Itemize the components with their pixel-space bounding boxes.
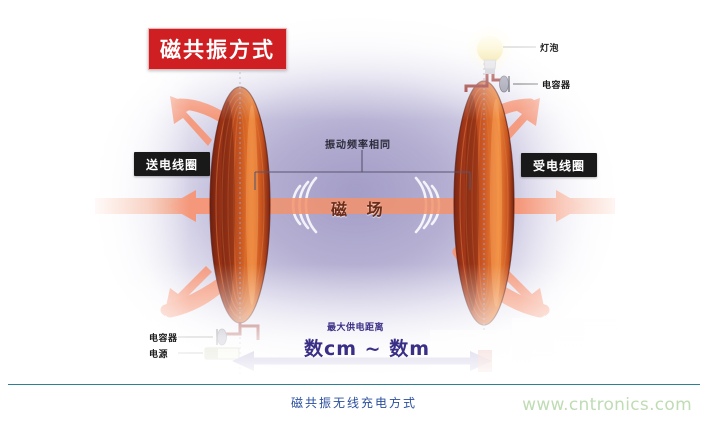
label-receive-coil: 受电线圈 (521, 153, 597, 177)
illustration-panel: 磁共振方式 送电线圈 受电线圈 振动频率相同 磁 场 最大供电距离 数cm ~ … (0, 0, 708, 384)
label-power-source: 电源 (149, 347, 168, 360)
frequency-bracket (255, 150, 470, 190)
footer-divider (8, 384, 700, 385)
site-watermark: www.cntronics.com (522, 395, 692, 415)
label-max-distance-title: 最大供电距离 (327, 320, 384, 333)
title-badge: 磁共振方式 (148, 28, 287, 70)
label-capacitor-right: 电容器 (542, 78, 571, 91)
label-max-distance-value: 数cm ~ 数m (304, 334, 430, 361)
label-transmit-coil: 送电线圈 (134, 152, 210, 176)
label-magnetic-field: 磁 场 (331, 196, 390, 220)
figure-root: 磁共振方式 送电线圈 受电线圈 振动频率相同 磁 场 最大供电距离 数cm ~ … (0, 0, 708, 426)
label-lamp: 灯泡 (540, 41, 559, 54)
edge-fade-top (0, 0, 708, 120)
label-same-frequency: 振动频率相同 (325, 136, 391, 151)
label-capacitor-left: 电容器 (149, 331, 178, 344)
